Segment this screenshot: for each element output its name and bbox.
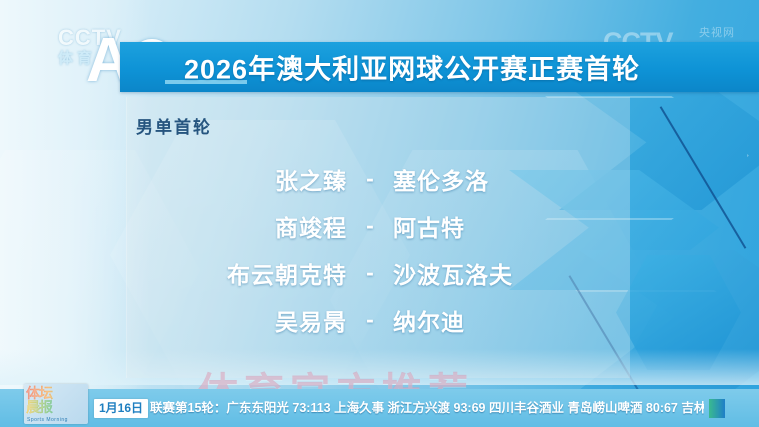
page-title: 2026年澳大利亚网球公开赛正赛首轮 — [184, 48, 640, 87]
ticker-logo-line-2: 晨报 — [26, 399, 86, 416]
match-list: 张之臻 - 塞伦多洛 商竣程 - 阿古特 布云朝克特 - 沙波瓦洛夫 吴易昺 -… — [126, 155, 629, 343]
player-right: 纳尔迪 — [393, 303, 583, 337]
player-left: 吴易昺 — [172, 303, 347, 337]
ticker-scroll-text: 联赛第15轮：广东东阳光 73:113 上海久事 浙江方兴渡 93:69 四川丰… — [150, 399, 704, 418]
match-separator: - — [347, 165, 393, 192]
match-row: 商竣程 - 阿古特 — [126, 202, 629, 249]
ticker-logo-line-3: Sports Morning — [27, 417, 68, 423]
player-left: 张之臻 — [172, 162, 347, 196]
news-ticker-bar: 体坛 晨报 Sports Morning 1月16日 联赛第15轮：广东东阳光 … — [0, 389, 759, 427]
player-left: 布云朝克特 — [172, 256, 347, 290]
player-right: 沙波瓦洛夫 — [393, 256, 583, 290]
broadcast-screen: CCTV 体育 A 央视网 CCTV .com 2026年澳大利亚网球公开赛正赛… — [0, 0, 759, 427]
watermark-sub-label: 央视网 — [699, 24, 735, 40]
player-right: 塞伦多洛 — [393, 162, 583, 196]
sports-morning-logo: 体坛 晨报 Sports Morning — [24, 384, 88, 424]
match-separator: - — [347, 259, 393, 286]
program-title-bar: 2026年澳大利亚网球公开赛正赛首轮 — [120, 42, 759, 92]
section-title: 男单首轮 — [136, 113, 212, 138]
player-left: 商竣程 — [172, 209, 347, 243]
match-row: 吴易昺 - 纳尔迪 — [126, 296, 629, 343]
ticker-date-badge: 1月16日 — [94, 399, 148, 418]
match-separator: - — [347, 212, 393, 239]
player-right: 阿古特 — [393, 209, 583, 243]
ticker-end-marker — [709, 399, 725, 418]
match-separator: - — [347, 306, 393, 333]
match-row: 张之臻 - 塞伦多洛 — [126, 155, 629, 202]
match-row: 布云朝克特 - 沙波瓦洛夫 — [126, 249, 629, 296]
